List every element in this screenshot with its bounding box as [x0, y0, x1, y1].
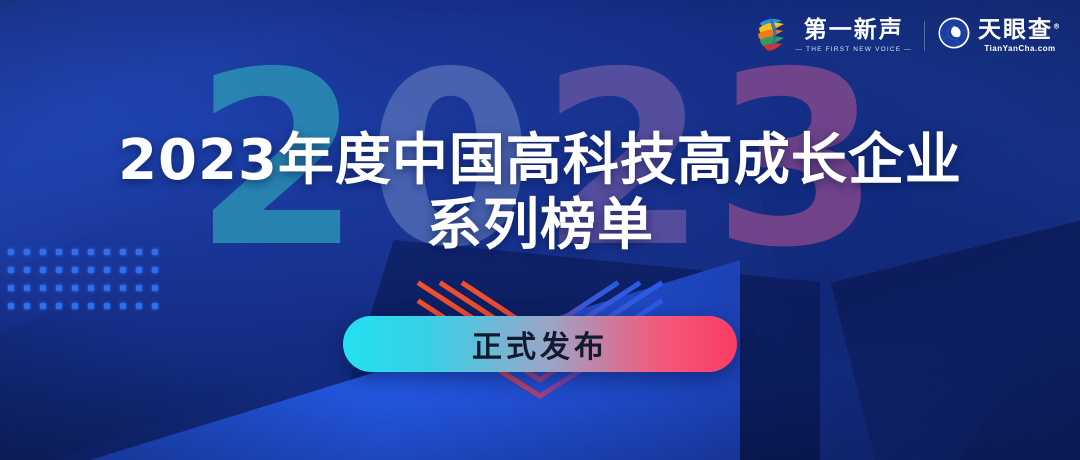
logo-diyixinsheng-tagline: — THE FIRST NEW VOICE —	[795, 46, 912, 53]
dot	[152, 303, 158, 309]
dot	[24, 285, 30, 291]
dot	[136, 267, 142, 273]
logo-tianyancha[interactable]: 天眼查® TianYanCha.com	[937, 16, 1062, 55]
page-title: 2023年度中国高科技高成长企业 系列榜单	[0, 132, 1080, 256]
dot	[72, 267, 78, 273]
logo-diyixinsheng-name: 第一新声	[804, 18, 904, 44]
logo-diyixinsheng-text: 第一新声 — THE FIRST NEW VOICE —	[795, 18, 912, 53]
dot	[56, 285, 62, 291]
dot	[88, 303, 94, 309]
dot	[120, 303, 126, 309]
dot	[72, 303, 78, 309]
dot	[24, 303, 30, 309]
dot	[24, 267, 30, 273]
title-line-2: 系列榜单	[0, 197, 1080, 256]
dot	[104, 285, 110, 291]
dot	[8, 285, 14, 291]
dot	[136, 285, 142, 291]
dot	[88, 267, 94, 273]
logo-group: 第一新声 — THE FIRST NEW VOICE — 天眼查® Ti	[754, 14, 1062, 57]
dot-matrix-decoration	[8, 249, 168, 321]
dot	[152, 267, 158, 273]
dot	[56, 303, 62, 309]
dot	[40, 267, 46, 273]
logo-tianyancha-name: 天眼查®	[978, 18, 1062, 44]
dot	[136, 303, 142, 309]
logo-divider	[924, 21, 925, 51]
eye-lens-icon	[937, 16, 971, 55]
title-line-1: 2023年度中国高科技高成长企业	[0, 132, 1080, 191]
logo-tianyancha-domain: TianYanCha.com	[984, 44, 1055, 53]
dot	[152, 285, 158, 291]
dot	[8, 267, 14, 273]
dot	[40, 303, 46, 309]
dot	[88, 285, 94, 291]
dot	[8, 303, 14, 309]
dot	[56, 267, 62, 273]
logo-diyixinsheng[interactable]: 第一新声 — THE FIRST NEW VOICE —	[754, 14, 912, 57]
dot	[72, 285, 78, 291]
swoosh-globe-icon	[754, 14, 788, 57]
dot	[120, 285, 126, 291]
dot	[120, 267, 126, 273]
banner-stage: 2023 2023	[0, 0, 1080, 460]
dot	[40, 285, 46, 291]
dot	[104, 303, 110, 309]
status-badge-label: 正式发布	[472, 322, 608, 366]
dot	[104, 267, 110, 273]
logo-tianyancha-text: 天眼查® TianYanCha.com	[978, 18, 1062, 54]
status-badge-release[interactable]: 正式发布	[343, 316, 737, 372]
trademark-symbol: ®	[1053, 22, 1062, 30]
